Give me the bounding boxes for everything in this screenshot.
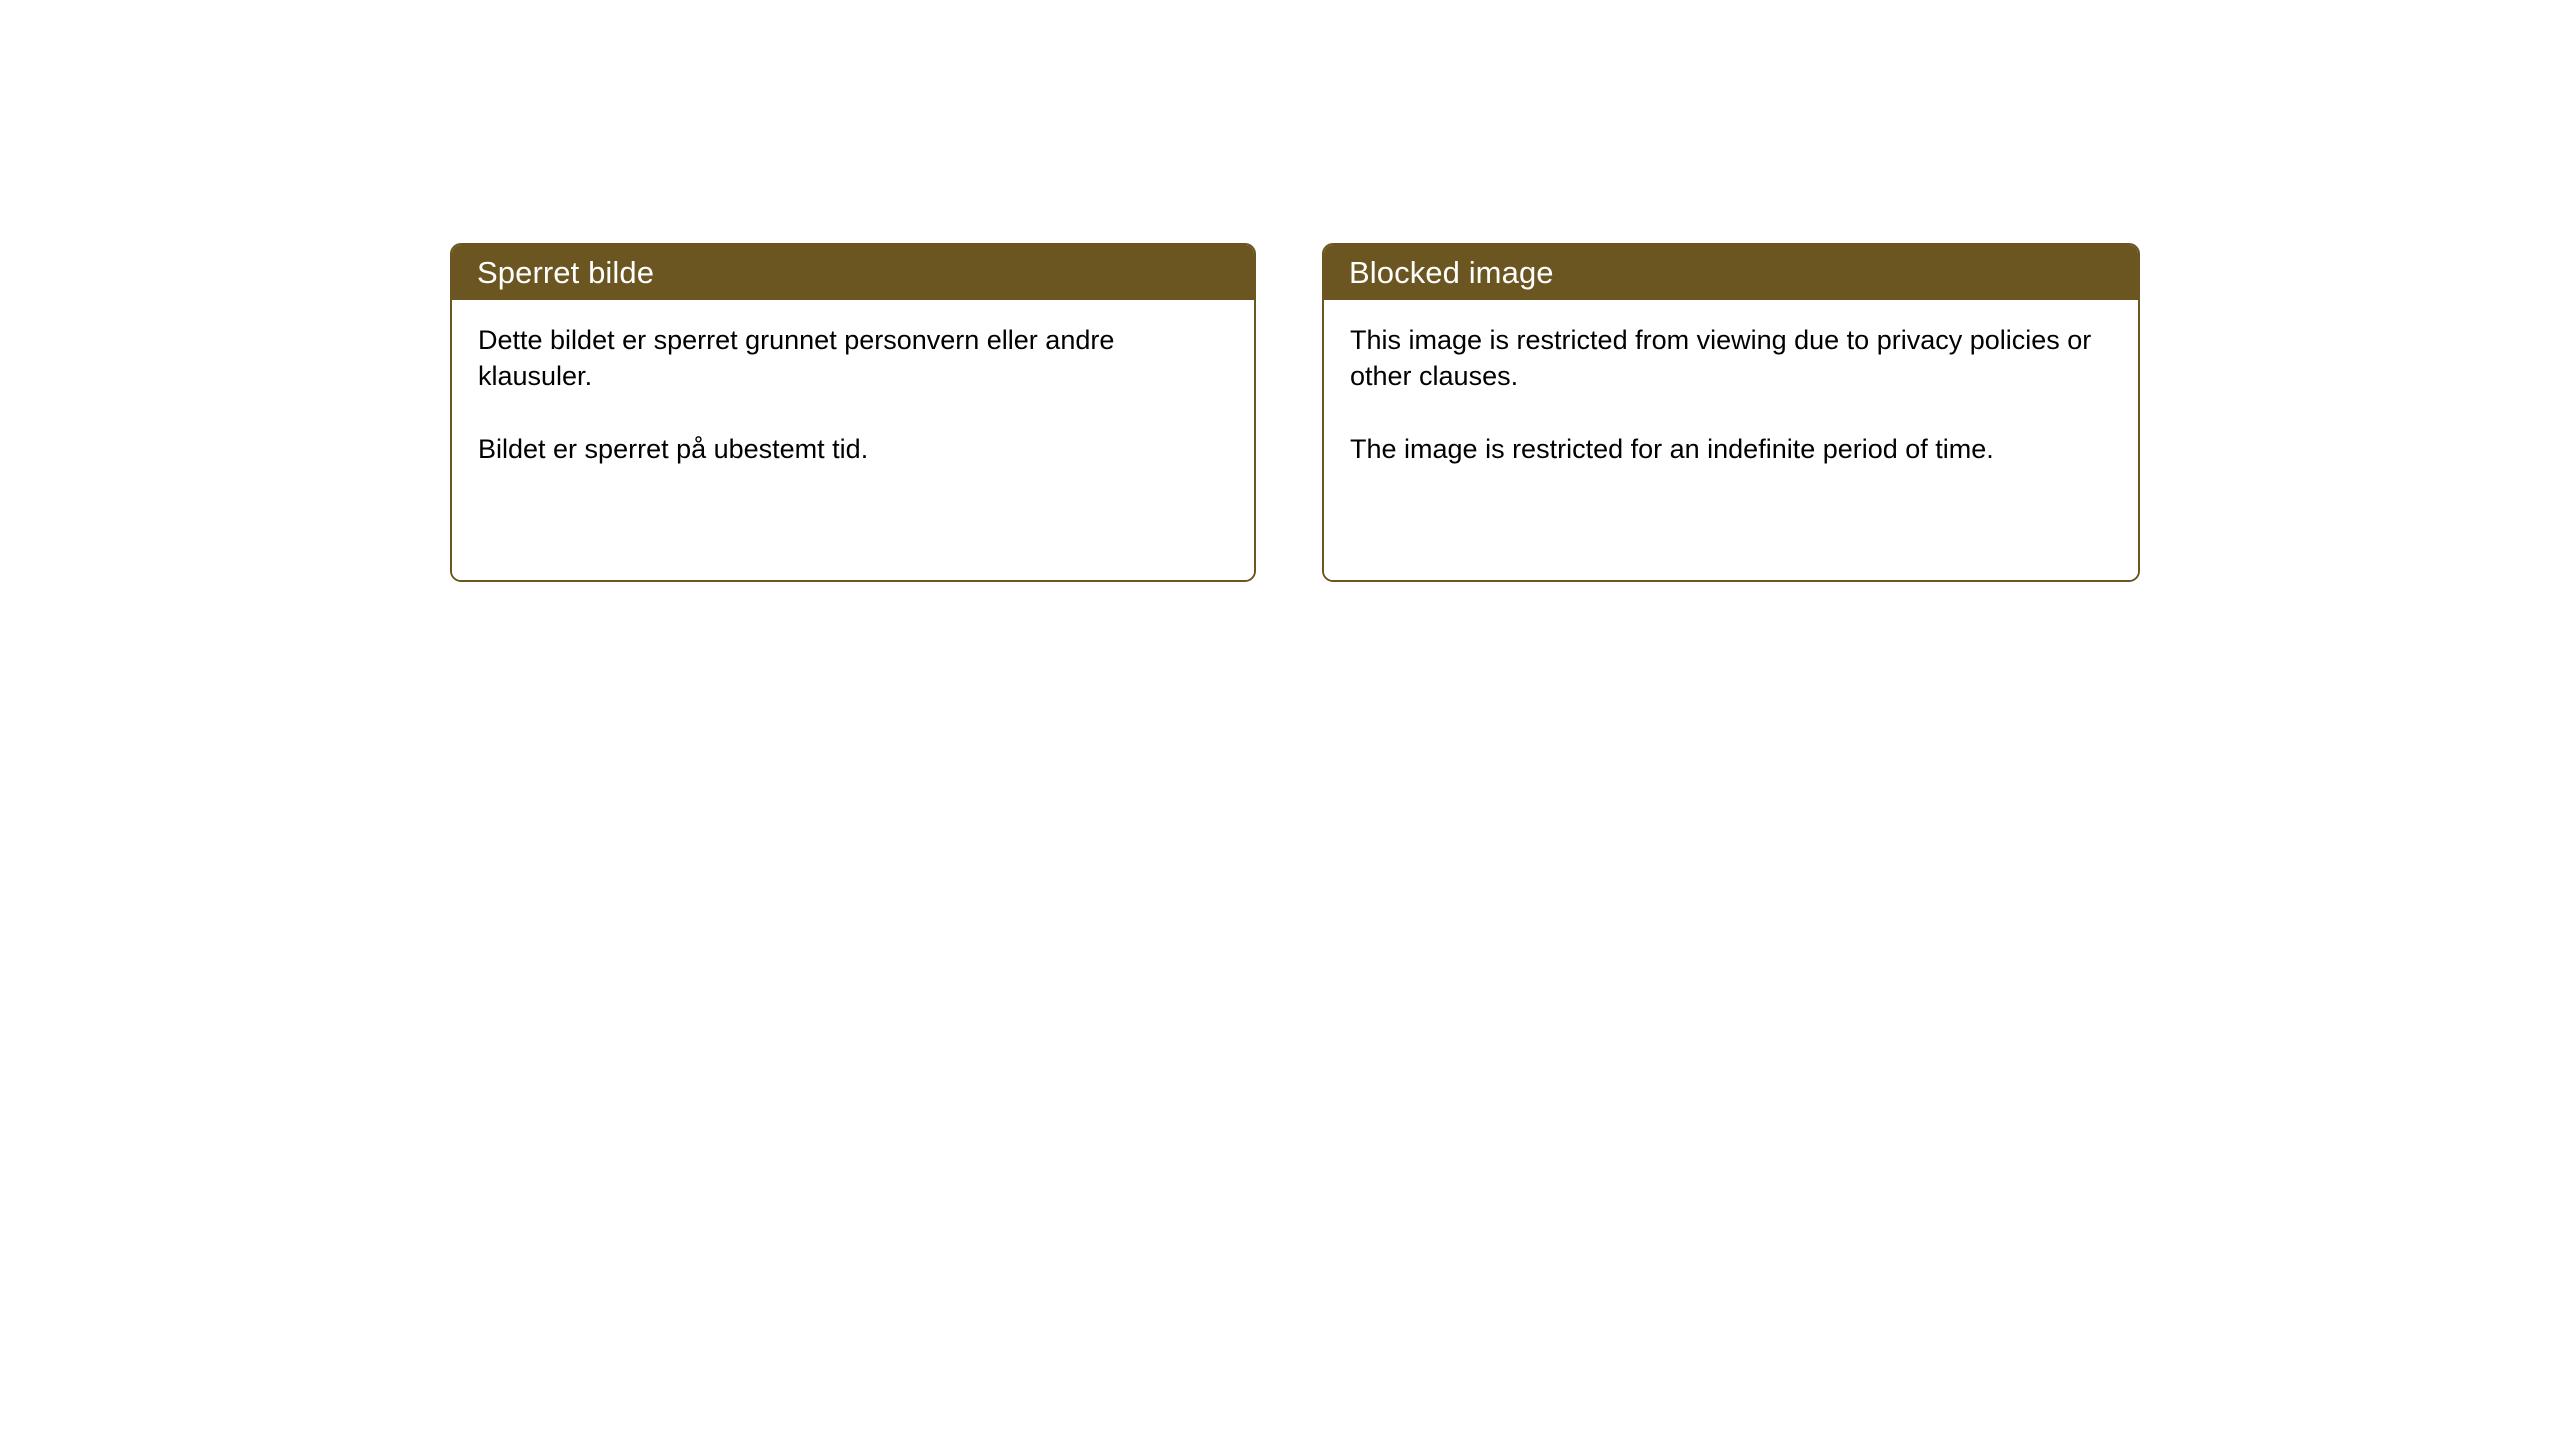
card-paragraph-duration-norwegian: Bildet er sperret på ubestemt tid.	[478, 431, 1178, 467]
card-body-english: This image is restricted from viewing du…	[1324, 300, 2138, 580]
card-title-english: Blocked image	[1349, 255, 1554, 291]
blocked-image-card-english: Blocked image This image is restricted f…	[1322, 243, 2140, 582]
card-title-norwegian: Sperret bilde	[477, 255, 654, 291]
card-paragraph-reason-norwegian: Dette bildet er sperret grunnet personve…	[478, 322, 1178, 394]
blocked-image-card-norwegian: Sperret bilde Dette bildet er sperret gr…	[450, 243, 1256, 582]
card-header-english: Blocked image	[1324, 245, 2138, 300]
card-paragraph-reason-english: This image is restricted from viewing du…	[1350, 322, 2110, 394]
card-header-norwegian: Sperret bilde	[452, 245, 1254, 300]
page-root: Sperret bilde Dette bildet er sperret gr…	[0, 0, 2560, 1440]
card-body-norwegian: Dette bildet er sperret grunnet personve…	[452, 300, 1254, 580]
card-paragraph-duration-english: The image is restricted for an indefinit…	[1350, 431, 2110, 467]
blocked-image-notice-group: Sperret bilde Dette bildet er sperret gr…	[450, 243, 2140, 582]
